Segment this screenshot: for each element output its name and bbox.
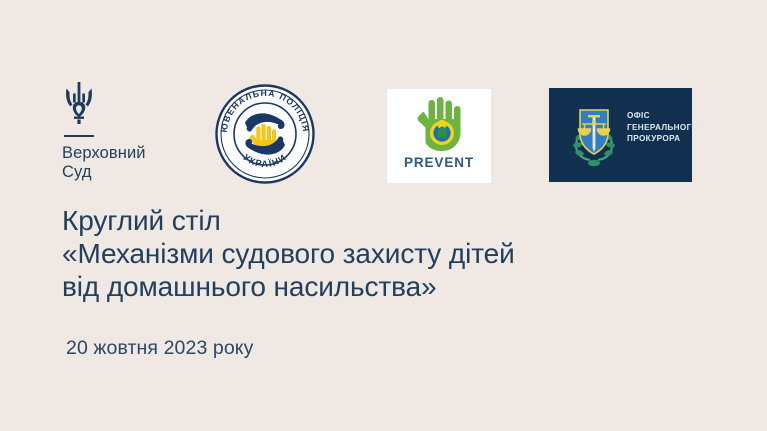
supreme-court-logo: Верховний Суд	[62, 80, 192, 182]
supreme-court-label-line2: Суд	[62, 163, 192, 182]
headline-line1: Круглий стіл	[62, 204, 662, 237]
pgo-label-line3: ПРОКУРОРА	[627, 133, 691, 145]
ukrainian-trident-emblem	[62, 80, 96, 126]
juvenile-police-seal: ЮВЕНАЛЬНА ПОЛІЦІЯ УКРАЇНИ	[215, 84, 315, 184]
prevent-logo: PREVENT	[387, 89, 491, 183]
pgo-label-line1: ОФІС	[627, 110, 691, 122]
prosecutor-general-coat-of-arms	[566, 104, 622, 168]
event-date: 20 жовтня 2023 року	[66, 337, 254, 360]
prevent-wordmark: PREVENT	[387, 155, 491, 170]
prosecutor-general-label: ОФІС ГЕНЕРАЛЬНОГО ПРОКУРОРА	[627, 110, 691, 145]
event-announcement-slide: Верховний Суд	[0, 0, 767, 431]
supreme-court-label-line1: Верховний	[62, 144, 192, 163]
prosecutor-general-logo: ОФІС ГЕНЕРАЛЬНОГО ПРОКУРОРА	[549, 88, 692, 182]
pgo-label-line2: ГЕНЕРАЛЬНОГО	[627, 122, 691, 134]
supreme-court-divider	[64, 135, 94, 137]
page-title: Круглий стіл «Механізми судового захисту…	[62, 204, 662, 303]
headline-line2: «Механізми судового захисту дітей	[62, 237, 662, 270]
headline-line3: від домашнього насильства»	[62, 270, 662, 303]
partner-logos-strip: Верховний Суд	[0, 78, 767, 190]
prevent-hand-logo	[387, 93, 491, 155]
